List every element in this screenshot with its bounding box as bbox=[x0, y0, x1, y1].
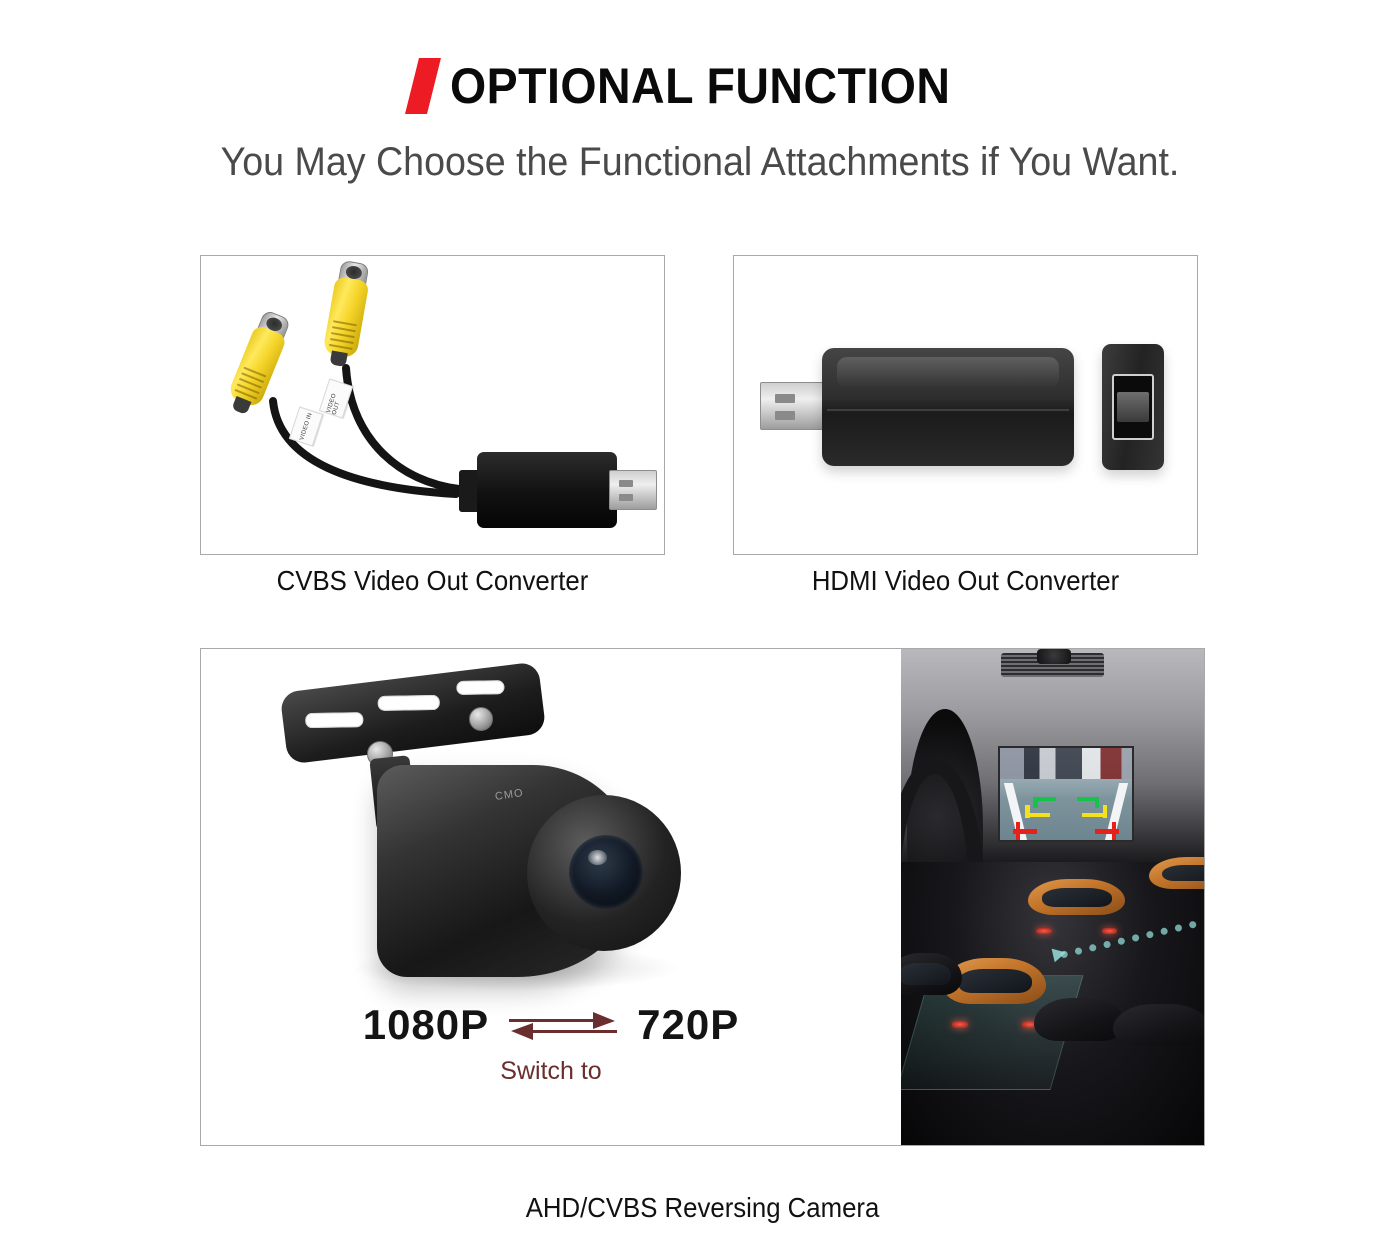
guideline-red bbox=[1112, 822, 1117, 841]
parking-scene-photo bbox=[901, 649, 1204, 1145]
bracket-slot bbox=[378, 695, 440, 711]
rca-grips bbox=[328, 320, 357, 354]
parked-car-dark bbox=[1034, 998, 1125, 1072]
page-subtitle: You May Choose the Functional Attachment… bbox=[42, 140, 1358, 185]
camera-mounting-bracket bbox=[280, 661, 547, 764]
guideline-yellow bbox=[1103, 805, 1108, 818]
hdmi-dongle-endview bbox=[1102, 344, 1164, 470]
product-panel-hdmi bbox=[733, 255, 1198, 555]
bracket-screw-icon bbox=[469, 707, 493, 731]
parked-suv-far bbox=[1149, 857, 1204, 914]
caption-cvbs: CVBS Video Out Converter bbox=[219, 565, 647, 597]
guideline-green bbox=[1033, 797, 1038, 808]
tail-light bbox=[1036, 928, 1052, 934]
resolution-to-label: 720P bbox=[637, 1001, 739, 1049]
camera-brand-logo: CMO bbox=[494, 787, 524, 803]
reversing-camera-illustration: CMO 1080P 720P Switch to bbox=[201, 649, 901, 1145]
resolution-from-label: 1080P bbox=[363, 1001, 489, 1049]
rear-camera-view bbox=[1000, 748, 1132, 841]
resolution-switch-line: 1080P 720P bbox=[201, 1001, 901, 1049]
page-title: OPTIONAL FUNCTION bbox=[0, 58, 1400, 114]
dongle-seam bbox=[827, 409, 1069, 411]
dashboard-knob-icon bbox=[1037, 649, 1070, 664]
hdmi-port-icon bbox=[1112, 374, 1154, 440]
hdmi-dongle-body bbox=[822, 348, 1074, 466]
guideline-yellow bbox=[1025, 805, 1030, 818]
caption-camera: AHD/CVBS Reversing Camera bbox=[240, 1192, 1165, 1224]
product-panel-camera: CMO 1080P 720P Switch to bbox=[200, 648, 1205, 1146]
guideline-green bbox=[1095, 797, 1100, 808]
guideline-yellow bbox=[1026, 813, 1050, 818]
night-parking-lot bbox=[901, 862, 1204, 1145]
switch-to-label: Switch to bbox=[201, 1057, 901, 1086]
lens-glint bbox=[588, 850, 607, 865]
tail-light bbox=[1102, 928, 1118, 934]
car-window bbox=[1162, 865, 1204, 882]
usb-a-plug-icon bbox=[609, 470, 657, 510]
trajectory-arrow-icon bbox=[1051, 946, 1067, 963]
bidirectional-arrow-icon bbox=[507, 1007, 619, 1043]
camera-lens-icon bbox=[569, 835, 643, 909]
car-window bbox=[1042, 888, 1112, 907]
car-roof bbox=[1113, 1004, 1204, 1047]
parked-car-dark bbox=[1113, 1004, 1204, 1078]
bracket-slot bbox=[456, 680, 504, 695]
parked-car-dark bbox=[901, 953, 962, 1027]
car-window bbox=[958, 969, 1032, 993]
reversing-suv bbox=[1028, 879, 1125, 941]
usb-a-plug-icon bbox=[760, 382, 826, 430]
bracket-slot bbox=[305, 712, 363, 728]
head-unit-display bbox=[998, 746, 1134, 843]
cvbs-converter-illustration: VIDEO IN VIDEO OUT bbox=[201, 256, 664, 554]
dongle-highlight bbox=[837, 357, 1059, 388]
converter-module-body bbox=[477, 452, 617, 528]
car-window bbox=[901, 963, 951, 985]
parked-cars-far bbox=[1000, 748, 1132, 780]
product-panel-cvbs: VIDEO IN VIDEO OUT bbox=[200, 255, 665, 555]
car-roof bbox=[1034, 998, 1125, 1041]
resolution-switch-block: 1080P 720P Switch to bbox=[201, 1001, 901, 1086]
hdmi-converter-illustration bbox=[734, 256, 1197, 554]
guideline-red bbox=[1016, 822, 1021, 841]
accent-slash-icon bbox=[405, 58, 441, 114]
caption-hdmi: HDMI Video Out Converter bbox=[752, 565, 1180, 597]
page-title-text: OPTIONAL FUNCTION bbox=[450, 61, 950, 111]
